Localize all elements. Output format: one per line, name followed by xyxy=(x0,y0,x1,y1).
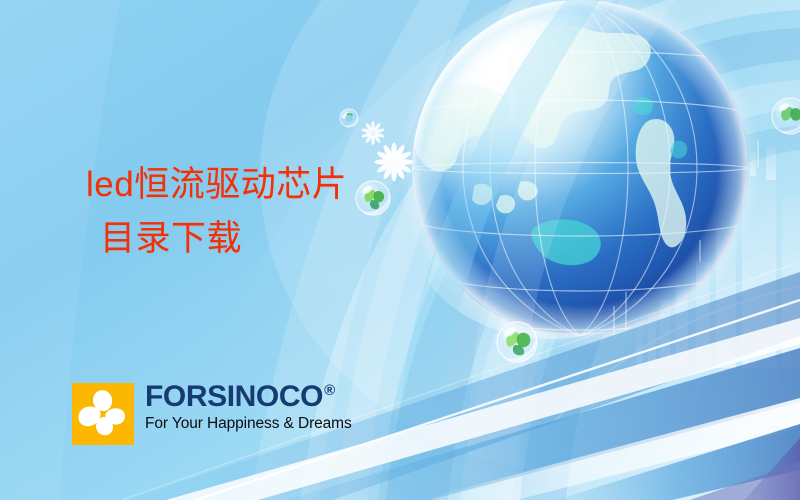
headline-line-1: led恒流驱动芯片 xyxy=(86,162,347,208)
logo-wordmark: FORSINOCO ® For Your Happiness & Dreams xyxy=(145,382,352,432)
headline-line-2: 目录下载 xyxy=(100,216,347,262)
promo-banner: led恒流驱动芯片 目录下载 FORSINOCO ® For Your Happ… xyxy=(0,0,800,500)
registered-trademark-icon: ® xyxy=(324,383,335,398)
logo-flower-icon xyxy=(72,383,134,445)
logo-tagline: For Your Happiness & Dreams xyxy=(145,415,352,432)
headline-text: led恒流驱动芯片 目录下载 xyxy=(86,162,347,261)
logo-name-text: FORSINOCO xyxy=(145,382,323,412)
logo-company-name: FORSINOCO ® xyxy=(145,382,352,412)
company-logo[interactable]: FORSINOCO ® For Your Happiness & Dreams xyxy=(72,383,352,445)
